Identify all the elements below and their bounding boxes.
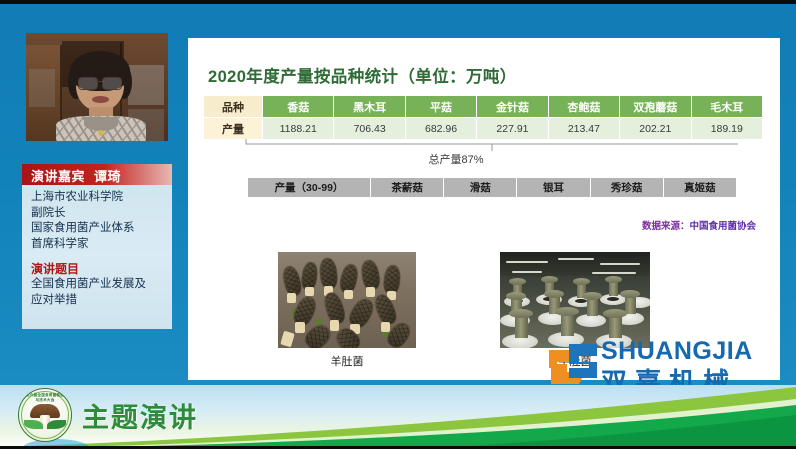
table-header-cell: 金针菇	[477, 96, 548, 118]
eyeglasses-icon	[78, 77, 122, 88]
topic-line-2: 应对举措	[31, 293, 167, 309]
total-output-label: 总产量87%	[188, 151, 780, 167]
table-header-cell: 香菇	[263, 96, 334, 118]
shelf-glass-upper	[128, 65, 164, 105]
secondary-table-cell: 滑菇	[444, 178, 517, 198]
table-header-cell: 平菇	[405, 96, 476, 118]
table-cell-value: 706.43	[334, 118, 405, 140]
speaker-details: 上海市农业科学院 副院长 国家食用菌产业体系 首席科学家 演讲题目 全国食用菌产…	[31, 190, 167, 308]
table-header-row: 品种 香菇 黑木耳 平菇 金针菇 杏鲍菇 双孢蘑菇 毛木耳	[204, 96, 763, 118]
presentation-screen: 演讲嘉宾 谭琦 上海市农业科学院 副院长 国家食用菌产业体系 首席科学家 演讲题…	[0, 0, 796, 449]
affiliation-line-4: 首席科学家	[31, 237, 167, 253]
necklace-pendant	[98, 130, 104, 136]
total-brace	[245, 139, 739, 151]
photo-mushroom-farm	[500, 252, 650, 348]
lens-left	[78, 77, 98, 90]
table-cell-value: 202.21	[620, 118, 691, 140]
lens-right	[102, 77, 122, 90]
table-cell-value: 227.91	[477, 118, 548, 140]
total-output-text: 总产量87%	[428, 154, 483, 166]
speaker-video-feed[interactable]	[26, 33, 168, 141]
table-header-cell: 毛木耳	[691, 96, 762, 118]
topic-line-1: 全国食用菌产业发展及	[31, 277, 167, 293]
slide-canvas: 2020年度产量按品种统计（单位：万吨） 品种 香菇 黑木耳 平菇 金针菇 杏鲍…	[188, 38, 780, 380]
data-source-note: 数据来源：中国食用菌协会	[188, 218, 780, 232]
table-cell-value: 189.19	[691, 118, 762, 140]
table-row-label-output: 产量	[204, 118, 263, 140]
slide-title: 2020年度产量按品种统计（单位：万吨）	[208, 63, 517, 87]
footer-title: 主题演讲	[82, 396, 198, 435]
farm-photo-scene	[500, 252, 650, 348]
secondary-table-cell: 银耳	[517, 178, 590, 198]
secondary-table-cell: 茶薪菇	[371, 178, 444, 198]
shelf-glass-left	[29, 69, 55, 107]
secondary-header-range: 产量（30-99）	[248, 178, 371, 198]
speaker-mouth	[92, 96, 109, 103]
production-table: 品种 香菇 黑木耳 平菇 金针菇 杏鲍菇 双孢蘑菇 毛木耳 产量 1188.21…	[203, 95, 763, 140]
secondary-production-table: 产量（30-99） 茶薪菇 滑菇 银耳 秀珍菇 真姬菇	[247, 177, 737, 198]
secondary-table-row: 产量（30-99） 茶薪菇 滑菇 银耳 秀珍菇 真姬菇	[248, 178, 737, 198]
speaker-badge: 演讲嘉宾 谭琦	[22, 164, 172, 185]
shirt-collar	[84, 117, 118, 131]
table-header-cell: 黑木耳	[334, 96, 405, 118]
topic-label: 演讲题目	[31, 261, 167, 277]
table-header-variety: 品种	[204, 96, 263, 118]
table-cell-value: 1188.21	[263, 118, 334, 140]
conference-logo-icon: 第六届全国食用菌装备与技术大会	[18, 388, 72, 442]
secondary-table-cell: 秀珍菇	[590, 178, 663, 198]
shuangjia-logo-icon	[545, 338, 601, 390]
affiliation-line-1: 上海市农业科学院	[31, 190, 167, 206]
secondary-table-cell: 真姬菇	[663, 178, 736, 198]
affiliation-line-3: 国家食用菌产业体系	[31, 221, 167, 237]
speaker-badge-role: 演讲嘉宾	[31, 166, 85, 185]
table-header-cell: 杏鲍菇	[548, 96, 619, 118]
speaker-info-card: 演讲嘉宾 谭琦 上海市农业科学院 副院长 国家食用菌产业体系 首席科学家 演讲题…	[22, 164, 172, 329]
table-cell-value: 682.96	[405, 118, 476, 140]
morel-photo-scene	[278, 252, 416, 348]
data-source-prefix: 数据来源：	[642, 221, 690, 232]
logo-leaf-left	[24, 420, 43, 429]
affiliation-line-2: 副院长	[31, 206, 167, 222]
photo-caption-morel: 羊肚菌	[278, 353, 416, 369]
photo-morel	[278, 252, 416, 348]
table-header-cell: 双孢蘑菇	[620, 96, 691, 118]
table-value-row: 产量 1188.21 706.43 682.96 227.91 213.47 2…	[204, 118, 763, 140]
speaker-badge-name: 谭琦	[94, 166, 121, 185]
table-cell-value: 213.47	[548, 118, 619, 140]
data-source-org: 中国食用菌协会	[689, 221, 756, 232]
